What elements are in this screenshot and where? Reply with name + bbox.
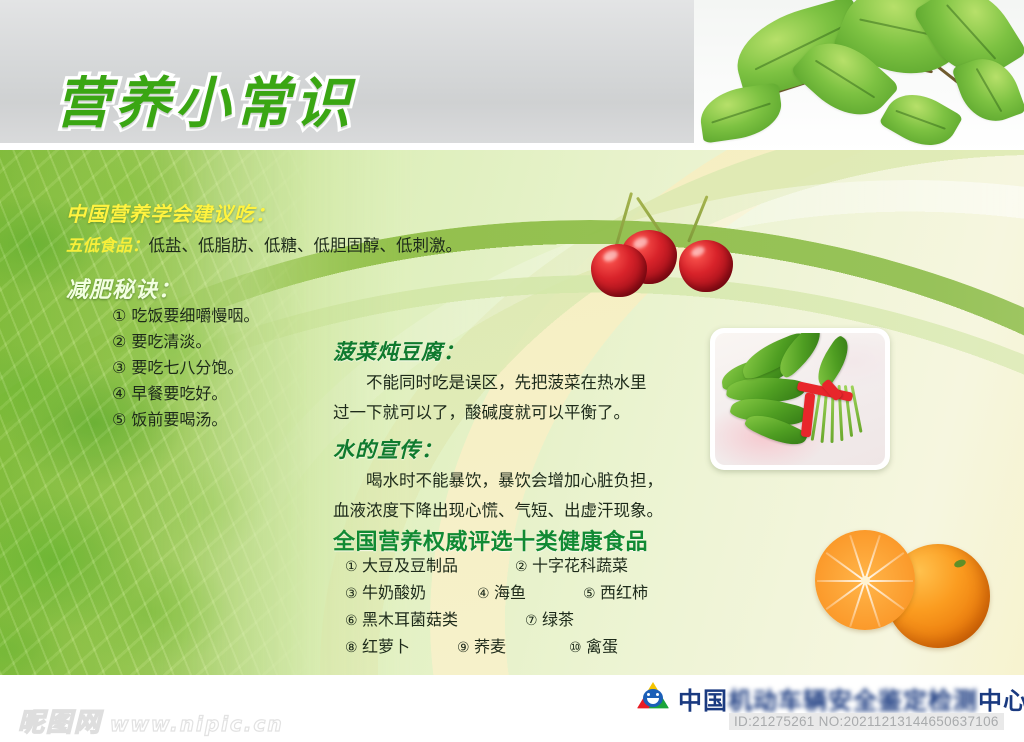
cherry-icon — [591, 244, 647, 297]
paragraph-line: 血液浓度下降出现心慌、气短、出虚汗现象。 — [333, 496, 663, 526]
item-name: 绿茶 — [542, 612, 574, 629]
item-number: ⑦ — [525, 612, 538, 628]
list-item: ③ 牛奶酸奶 — [345, 580, 477, 607]
item-number: ⑥ — [345, 612, 358, 628]
list-item: ③ 要吃七八分饱。 — [112, 355, 259, 381]
cherries-image — [575, 182, 745, 297]
org-name-suffix: 中心 — [978, 687, 1024, 715]
page-title: 营养小常识 — [55, 58, 355, 138]
list-item: ② 要吃清淡。 — [112, 329, 259, 355]
list-item: ④ 海鱼 — [477, 580, 583, 607]
orange-slice-icon — [815, 530, 915, 630]
leaf-icon — [697, 83, 785, 144]
paragraph-line: 过一下就可以了，酸碱度就可以平衡了。 — [333, 398, 647, 428]
item-number: ③ — [345, 585, 358, 601]
table-row: ③ 牛奶酸奶 ④ 海鱼 ⑤ 西红柿 — [345, 580, 695, 607]
recommend-body: 低盐、低脂肪、低糖、低胆固醇、低刺激。 — [149, 236, 463, 255]
list-item: ⑤ 西红柿 — [583, 580, 648, 607]
oranges-image — [815, 530, 990, 655]
item-number: ① — [345, 558, 358, 574]
list-item: ⑤ 饭前要喝汤。 — [112, 407, 259, 433]
orange-core — [861, 576, 870, 585]
list-item: ⑧ 红萝卜 — [345, 634, 457, 661]
logo-smiley-face-icon — [643, 689, 663, 707]
item-name: 西红柿 — [600, 585, 648, 602]
list-item: ⑥ 黑木耳菌菇类 — [345, 607, 525, 634]
paragraph-line: 喝水时不能暴饮，暴饮会增加心脏负担， — [333, 466, 663, 496]
healthy-foods-list: ① 大豆及豆制品 ② 十字花科蔬菜 ③ 牛奶酸奶 ④ 海鱼 ⑤ 西红柿 — [345, 553, 695, 661]
spinach-heading: 菠菜炖豆腐： — [333, 336, 465, 366]
table-row: ⑥ 黑木耳菌菇类 ⑦ 绿茶 — [345, 607, 695, 634]
paragraph-line: 不能同时吃是误区，先把菠菜在热水里 — [333, 368, 647, 398]
list-item: ① 吃饭要细嚼慢咽。 — [112, 303, 259, 329]
list-item: ② 十字花科蔬菜 — [515, 553, 628, 580]
healthy-foods-heading: 全国营养权威评选十类健康食品 — [333, 524, 648, 556]
item-number: ⑧ — [345, 639, 358, 655]
item-name: 荞麦 — [474, 639, 506, 656]
list-item: ④ 早餐要吃好。 — [112, 381, 259, 407]
table-row: ① 大豆及豆制品 ② 十字花科蔬菜 — [345, 553, 695, 580]
item-number: ④ — [477, 585, 490, 601]
site-watermark: 昵图网www.nipic.cn — [18, 702, 284, 739]
leaves-decoration-image — [694, 0, 1024, 152]
cherry-icon — [679, 240, 733, 292]
item-name: 禽蛋 — [586, 639, 618, 656]
list-item: ⑦ 绿茶 — [525, 607, 574, 634]
list-item: ① 大豆及豆制品 — [345, 553, 515, 580]
recommend-label: 五低食品： — [66, 236, 149, 255]
org-name-blurred: 机动车辆安全鉴定检测 — [728, 681, 978, 716]
watermark-brand: 昵图网 — [18, 708, 102, 738]
watermark-url: www.nipic.cn — [110, 712, 284, 736]
list-item: ⑩ 禽蛋 — [569, 634, 618, 661]
item-name: 大豆及豆制品 — [362, 558, 458, 575]
orange-stem-icon — [953, 558, 967, 569]
item-name: 牛奶酸奶 — [362, 585, 426, 602]
spinach-photo-card — [710, 328, 890, 470]
spinach-photo — [715, 333, 885, 465]
org-name-prefix: 中国 — [678, 687, 728, 715]
diet-heading: 减肥秘诀： — [66, 272, 181, 304]
item-name: 十字花科蔬菜 — [532, 558, 628, 575]
footer-organization-name: 中国机动车辆安全鉴定检测中心 — [678, 681, 1024, 716]
water-heading: 水的宣传： — [333, 434, 443, 464]
spinach-paragraph: 不能同时吃是误区，先把菠菜在热水里 过一下就可以了，酸碱度就可以平衡了。 — [333, 368, 647, 428]
recommend-heading: 中国营养学会建议吃： — [66, 198, 276, 227]
item-name: 海鱼 — [494, 585, 526, 602]
table-row: ⑧ 红萝卜 ⑨ 荞麦 ⑩ 禽蛋 — [345, 634, 695, 661]
organization-logo — [637, 682, 669, 712]
item-number: ② — [515, 558, 528, 574]
water-paragraph: 喝水时不能暴饮，暴饮会增加心脏负担， 血液浓度下降出现心慌、气短、出虚汗现象。 — [333, 466, 663, 526]
recommend-text-row: 五低食品：低盐、低脂肪、低糖、低胆固醇、低刺激。 — [66, 232, 462, 259]
item-number: ⑨ — [457, 639, 470, 655]
item-number: ⑩ — [569, 639, 582, 655]
diet-list: ① 吃饭要细嚼慢咽。 ② 要吃清淡。 ③ 要吃七八分饱。 ④ 早餐要吃好。 ⑤ … — [112, 303, 259, 433]
item-number: ⑤ — [583, 585, 596, 601]
item-name: 黑木耳菌菇类 — [362, 612, 458, 629]
poster-canvas: 营养小常识 中国营养学会建议吃： 五低食品：低盐、低脂肪、低糖、低胆固醇、低刺激… — [0, 0, 1024, 742]
item-name: 红萝卜 — [362, 639, 410, 656]
id-stamp: ID:21275261 NO:20211213144650637106 — [729, 713, 1004, 730]
list-item: ⑨ 荞麦 — [457, 634, 569, 661]
